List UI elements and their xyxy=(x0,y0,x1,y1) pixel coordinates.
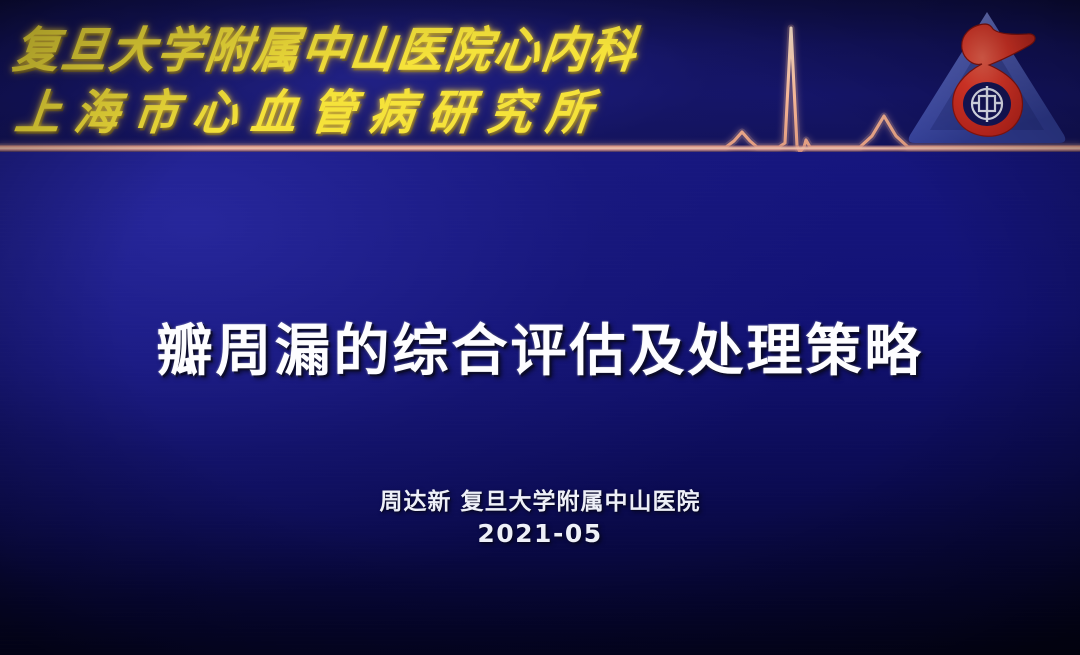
institution-calligraphy-line-1: 复旦大学附属中山医院心内科 xyxy=(10,12,643,82)
presentation-date: 2021-05 xyxy=(0,519,1080,548)
presentation-slide: 复旦大学附属中山医院心内科 上海市心血管病研究所 xyxy=(0,0,1080,655)
background-texture-overlay xyxy=(0,152,1080,655)
institution-calligraphy-line-2: 上海市心血管病研究所 xyxy=(12,74,610,143)
page-title: 瓣周漏的综合评估及处理策略 xyxy=(0,306,1080,387)
presenter-byline: 周达新 复旦大学附属中山医院 xyxy=(0,482,1080,516)
slide-header-banner: 复旦大学附属中山医院心内科 上海市心血管病研究所 xyxy=(0,0,1080,152)
hospital-heart-logo xyxy=(894,2,1080,152)
